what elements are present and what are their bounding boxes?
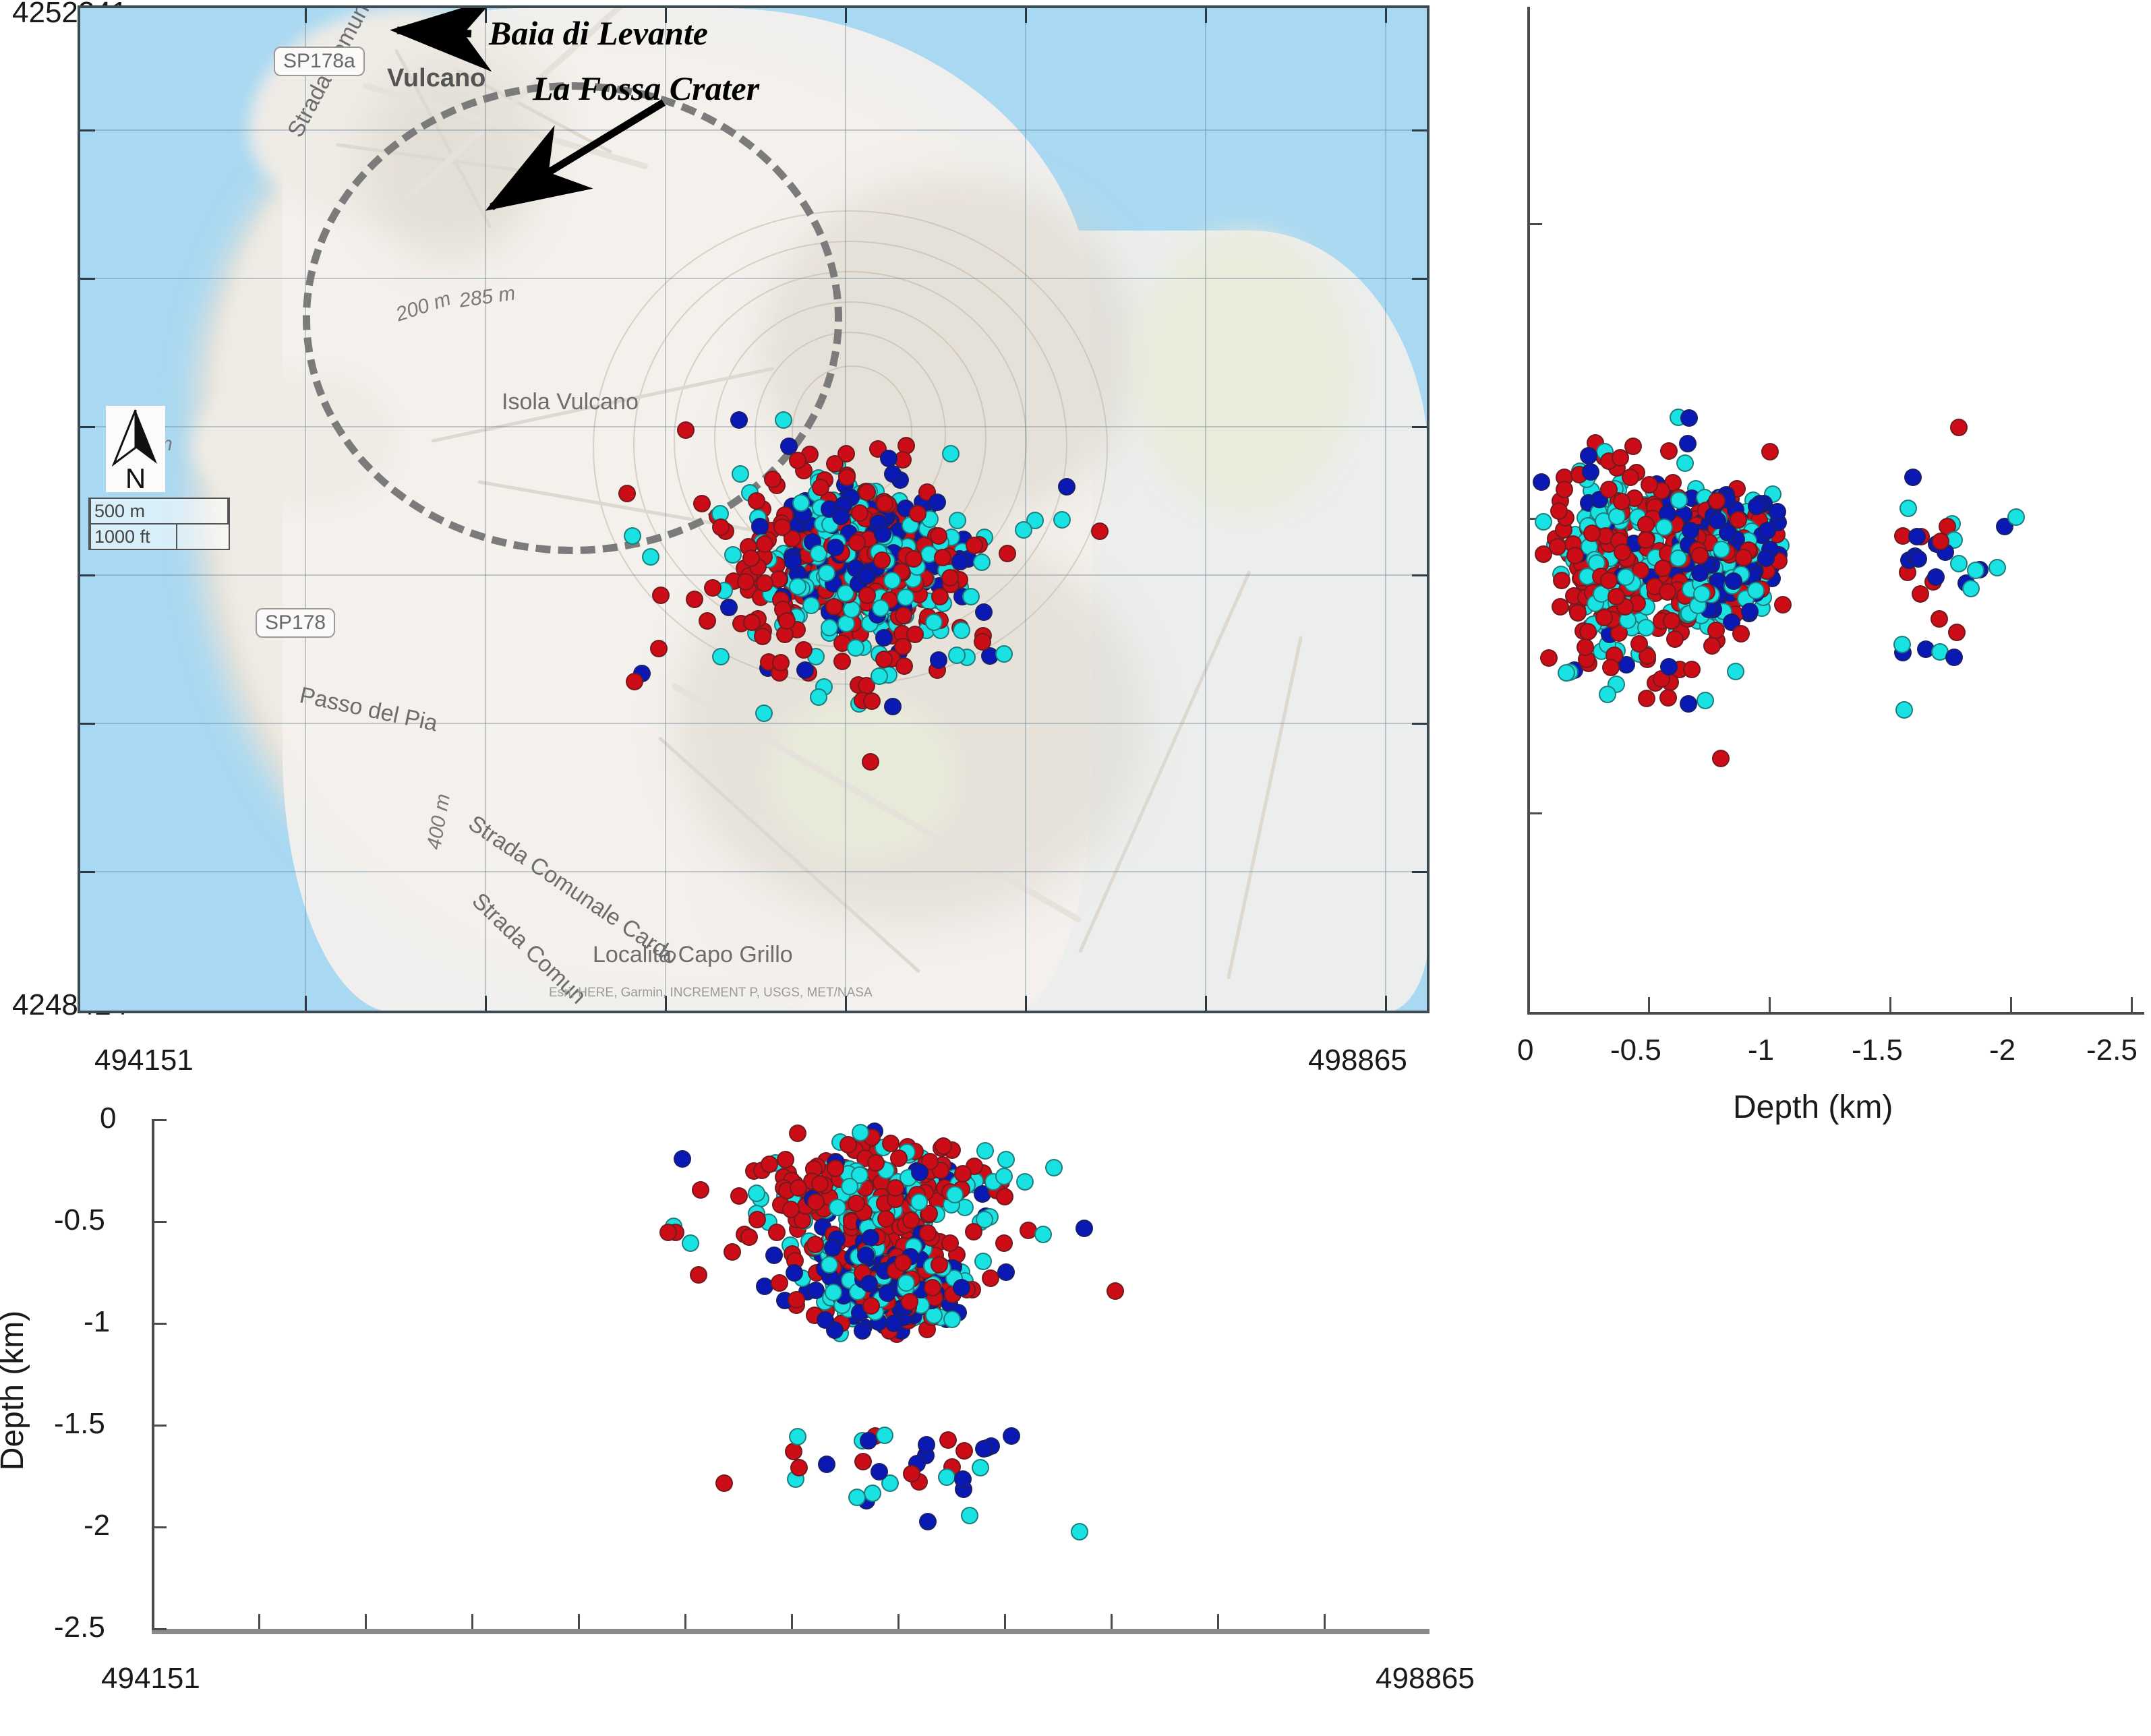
bottom-panel-xtick-6	[791, 1614, 793, 1629]
hypocenter-marker	[785, 1443, 802, 1460]
hypocenter-marker	[1757, 549, 1775, 567]
hypocenter-marker	[704, 579, 721, 597]
road-shield-sp178[interactable]: SP178	[256, 608, 335, 638]
map-tick-top-5	[1025, 8, 1027, 23]
hypocenter-marker	[884, 698, 902, 715]
hypocenter-marker	[737, 573, 755, 591]
right-panel-ytick-3	[1527, 812, 1542, 814]
map-tick-right-1	[1412, 129, 1427, 131]
scale-bar: 500 m 1000 ft	[88, 498, 230, 550]
hypocenter-marker	[790, 1179, 807, 1197]
map-tick-top-4	[845, 8, 847, 23]
hypocenter-marker	[905, 550, 922, 568]
hypocenter-marker	[941, 569, 959, 587]
hypocenter-marker	[1735, 549, 1752, 566]
hypocenter-marker	[1582, 463, 1599, 481]
right-panel-xtick-1	[1648, 997, 1650, 1012]
bottom-panel-ytick-label-5: -2.5	[54, 1611, 105, 1644]
hypocenter-marker	[789, 452, 806, 469]
hypocenter-marker	[1630, 635, 1648, 653]
hypocenter-marker	[1962, 580, 1980, 597]
hypocenter-marker	[1659, 583, 1676, 601]
hypocenter-marker	[901, 1293, 918, 1311]
hypocenter-marker	[833, 653, 851, 670]
bottom-panel-xtick-7	[897, 1614, 900, 1629]
hypocenter-marker	[976, 1142, 994, 1160]
hypocenter-marker	[953, 1279, 970, 1296]
hypocenter-marker	[1622, 469, 1639, 486]
hypocenter-marker	[1904, 469, 1922, 486]
map-tick-top-7	[1385, 8, 1387, 23]
annotation-baia-di-levante: Baia di Levante	[489, 13, 708, 53]
hypocenter-marker	[860, 1275, 878, 1292]
bottom-panel-xtick-1	[258, 1614, 260, 1629]
hypocenter-marker	[876, 1427, 893, 1444]
hypocenter-marker	[730, 1187, 748, 1205]
hypocenter-marker	[1058, 478, 1075, 496]
bottom-panel-ytick-1	[152, 1221, 167, 1223]
hypocenter-marker	[1676, 454, 1694, 472]
hypocenter-marker	[1637, 531, 1655, 549]
hypocenter-marker	[863, 692, 881, 710]
hypocenter-marker	[903, 1465, 920, 1483]
hypocenter-marker	[931, 588, 949, 605]
hypocenter-marker	[1045, 1159, 1063, 1176]
hypocenter-marker	[1583, 525, 1601, 542]
hypocenter-marker	[795, 641, 813, 659]
hypocenter-marker	[879, 1284, 896, 1302]
map-panel[interactable]: Vulcano Isola Vulcano Località Capo Gril…	[78, 5, 1430, 1013]
hypocenter-marker	[1680, 695, 1697, 713]
hypocenter-marker	[1761, 443, 1779, 460]
scale-bar-metric: 500 m	[88, 498, 230, 525]
bottom-panel-ytick-label-3: -1.5	[54, 1407, 105, 1441]
map-tick-right-4	[1412, 574, 1427, 576]
hypocenter-marker	[1967, 562, 1984, 579]
hypocenter-marker	[686, 591, 703, 608]
hypocenter-marker	[854, 1453, 872, 1470]
hypocenter-marker	[854, 1322, 871, 1340]
hypocenter-marker	[802, 597, 820, 614]
hypocenter-marker	[930, 527, 947, 545]
right-panel-xtick-label-2: -1	[1748, 1034, 1774, 1067]
map-tick-left-2	[80, 278, 95, 280]
hypocenter-marker	[1725, 572, 1742, 590]
bottom-panel-ytick-0	[152, 1119, 167, 1121]
hypocenter-marker	[1680, 409, 1698, 427]
hypocenter-marker	[841, 1178, 858, 1195]
hypocenter-marker	[775, 411, 792, 429]
hypocenter-marker	[995, 1168, 1013, 1185]
hypocenter-marker	[818, 564, 835, 582]
hypocenter-marker	[876, 495, 893, 512]
hypocenter-marker	[1638, 690, 1655, 707]
hypocenter-marker	[954, 1165, 972, 1183]
hypocenter-marker	[1727, 663, 1744, 680]
hypocenter-marker	[659, 1224, 677, 1241]
right-depth-panel[interactable]	[1527, 7, 2144, 1018]
hypocenter-marker	[818, 1456, 835, 1473]
hypocenter-marker	[1003, 1427, 1020, 1445]
hypocenter-marker	[1748, 498, 1765, 515]
hypocenter-marker	[966, 537, 983, 554]
hypocenter-marker	[924, 1279, 941, 1296]
hypocenter-marker	[1708, 492, 1726, 510]
hypocenter-marker	[961, 1507, 978, 1524]
hypocenter-marker	[1654, 560, 1672, 577]
map-gridline-v1	[305, 8, 306, 1011]
hypocenter-marker	[939, 1431, 957, 1449]
scale-bar-imperial-label: 1000 ft	[94, 527, 150, 547]
hypocenter-marker	[1988, 559, 2006, 576]
hypocenter-marker	[715, 1474, 733, 1492]
hypocenter-marker	[806, 1236, 824, 1253]
hypocenter-marker	[789, 578, 806, 595]
right-panel-ytick-1	[1527, 223, 1542, 225]
hypocenter-marker	[895, 657, 913, 675]
scale-bar-metric-label: 500 m	[94, 501, 145, 522]
hypocenter-marker	[851, 504, 868, 522]
hypocenter-marker	[624, 527, 641, 545]
hypocenter-marker	[772, 654, 790, 671]
hypocenter-marker	[875, 651, 893, 668]
bottom-panel-xtick-9	[1111, 1614, 1113, 1629]
hypocenter-marker	[883, 572, 901, 589]
hypocenter-marker	[1016, 1173, 1034, 1191]
map-tick-left-6	[80, 871, 95, 873]
hypocenter-marker	[1663, 612, 1680, 630]
hypocenter-marker	[1075, 1220, 1093, 1237]
map-canvas: Vulcano Isola Vulcano Località Capo Gril…	[80, 8, 1427, 1011]
hypocenter-marker	[1950, 555, 1968, 572]
hypocenter-marker	[2007, 508, 2025, 526]
hypocenter-marker	[884, 465, 902, 483]
hypocenter-marker	[626, 673, 643, 690]
hypocenter-marker	[825, 1284, 842, 1301]
hypocenter-marker	[860, 1432, 877, 1449]
right-panel-xtick-0	[1527, 997, 1529, 1012]
bottom-panel-xtick-11	[1324, 1614, 1326, 1629]
bottom-panel-ytick-5	[152, 1628, 167, 1630]
annotation-la-fossa-crater: La Fossa Crater	[533, 69, 759, 108]
scale-bar-tick-imperial-mid	[176, 525, 177, 549]
hypocenter-marker	[720, 599, 738, 616]
map-label-isola-vulcano: Isola Vulcano	[502, 389, 639, 415]
hypocenter-marker	[1540, 649, 1558, 667]
hypocenter-marker	[938, 1468, 955, 1486]
scale-bar-tick-metric-end	[227, 499, 229, 523]
right-panel-xtick-2	[1769, 997, 1771, 1012]
right-panel-x-title: Depth (km)	[1733, 1089, 1893, 1126]
hypocenter-marker	[982, 1269, 999, 1287]
bottom-panel-xtick-8	[1004, 1614, 1006, 1629]
bottom-panel-xtick-3	[471, 1614, 473, 1629]
hypocenter-marker	[761, 1156, 778, 1173]
hypocenter-marker	[740, 1228, 758, 1246]
bottom-panel-xtick-10	[1217, 1614, 1219, 1629]
hypocenter-marker	[925, 613, 943, 631]
hypocenter-marker	[1566, 547, 1584, 564]
map-gridline-h5	[80, 723, 1427, 724]
hypocenter-marker	[929, 493, 946, 511]
hypocenter-marker	[1769, 503, 1786, 520]
right-panel-y-spine	[1527, 7, 1530, 1015]
hypocenter-marker	[789, 1125, 806, 1142]
right-panel-xtick-label-4: -2	[1989, 1034, 2015, 1067]
hypocenter-marker	[792, 494, 810, 512]
hypocenter-marker	[764, 471, 782, 488]
hypocenter-marker	[1912, 585, 1929, 603]
hypocenter-marker	[812, 479, 829, 496]
hypocenter-marker	[874, 525, 891, 543]
hypocenter-marker	[995, 1234, 1013, 1252]
hypocenter-marker	[1774, 596, 1792, 613]
hypocenter-marker	[1945, 649, 1963, 666]
hypocenter-marker	[755, 705, 773, 722]
map-tick-left-1	[80, 129, 95, 131]
vegetation-patch-east	[1132, 231, 1355, 514]
hypocenter-marker	[918, 1436, 935, 1454]
hypocenter-marker	[1712, 750, 1730, 767]
bottom-panel-ytick-label-0: 0	[100, 1102, 116, 1135]
hypocenter-marker	[1659, 689, 1677, 707]
right-panel-xtick-4	[2010, 997, 2012, 1012]
hypocenter-marker	[858, 567, 875, 585]
bottom-panel-ytick-3	[152, 1425, 167, 1427]
hypocenter-marker	[1931, 610, 1948, 628]
hypocenter-marker	[1660, 442, 1678, 460]
hypocenter-marker	[955, 1442, 973, 1460]
hypocenter-marker	[754, 628, 771, 645]
hypocenter-marker	[1713, 541, 1730, 558]
hypocenter-marker	[712, 648, 730, 665]
bottom-panel-x-spine	[152, 1629, 1430, 1634]
right-panel-xtick-label-3: -1.5	[1852, 1034, 1903, 1067]
map-gridline-v7	[1385, 8, 1386, 1011]
hypocenter-marker	[1697, 692, 1714, 709]
hypocenter-marker	[847, 639, 864, 657]
map-tick-left-4	[80, 574, 95, 576]
hypocenter-marker	[778, 612, 796, 630]
hypocenter-marker	[790, 1459, 808, 1476]
right-panel-xtick-label-1: -0.5	[1610, 1034, 1661, 1067]
hypocenter-marker	[997, 1263, 1015, 1281]
hypocenter-marker	[974, 1253, 992, 1270]
map-xtick-right: 498865	[1308, 1044, 1407, 1077]
hypocenter-marker	[682, 1234, 699, 1252]
scale-bar-tick-metric	[90, 499, 91, 523]
hypocenter-marker	[1602, 659, 1620, 676]
scale-bar-tick-imperial	[90, 525, 91, 549]
map-tick-top-6	[1205, 8, 1207, 23]
map-tick-right-2	[1412, 278, 1427, 280]
map-tick-right-3	[1412, 426, 1427, 428]
hypocenter-marker	[911, 1164, 929, 1181]
map-xtick-left: 494151	[94, 1044, 194, 1077]
hypocenter-marker	[748, 492, 765, 510]
hypocenter-marker	[1910, 550, 1927, 568]
hypocenter-marker	[894, 638, 912, 655]
bottom-panel-xtick-label-left: 494151	[101, 1662, 200, 1696]
hypocenter-marker	[777, 1151, 794, 1168]
bottom-panel-ytick-label-2: -1	[84, 1305, 110, 1339]
hypocenter-marker	[871, 1463, 888, 1480]
hypocenter-marker	[1614, 543, 1631, 561]
hypocenter-marker	[864, 1485, 881, 1502]
hypocenter-marker	[1899, 500, 1917, 517]
map-attribution: Esri, HERE, Garmin, INCREMENT P, USGS, M…	[549, 986, 873, 1000]
hypocenter-marker	[954, 1470, 972, 1488]
hypocenter-marker	[910, 1193, 928, 1211]
scale-bar-imperial: 1000 ft	[88, 525, 230, 550]
hypocenter-marker	[618, 485, 636, 502]
bottom-panel-ytick-label-4: -2	[84, 1509, 110, 1543]
hypocenter-marker	[1071, 1523, 1088, 1540]
hypocenter-marker	[827, 1160, 844, 1177]
map-tick-bottom-5	[1025, 996, 1027, 1011]
hypocenter-marker	[1599, 686, 1616, 703]
hypocenter-marker	[765, 1247, 783, 1264]
hypocenter-marker	[786, 1264, 803, 1282]
right-panel-xtick-3	[1889, 997, 1891, 1012]
bottom-depth-panel[interactable]	[152, 1119, 1430, 1632]
map-label-vulcano: Vulcano	[387, 64, 485, 93]
hypocenter-marker	[1600, 572, 1618, 589]
hypocenter-marker	[975, 1440, 993, 1458]
hypocenter-marker	[931, 1256, 948, 1274]
map-tick-bottom-1	[305, 996, 307, 1011]
hypocenter-marker	[1569, 604, 1587, 622]
hypocenter-marker	[1612, 449, 1629, 467]
hypocenter-marker	[810, 688, 827, 706]
hypocenter-marker	[943, 1311, 961, 1328]
hypocenter-marker	[838, 469, 856, 486]
hypocenter-marker	[742, 549, 760, 567]
hypocenter-marker	[934, 549, 951, 566]
crater-boundary-circle	[303, 82, 842, 554]
hypocenter-marker	[748, 1185, 765, 1202]
hypocenter-marker	[768, 1224, 786, 1241]
map-gridline-h1	[80, 129, 1427, 131]
hypocenter-marker	[1691, 564, 1709, 582]
hypocenter-marker	[1580, 447, 1597, 465]
hypocenter-marker	[974, 633, 991, 651]
hypocenter-marker	[821, 619, 838, 636]
hypocenter-marker	[748, 1211, 766, 1228]
hypocenter-marker	[996, 1188, 1013, 1205]
hypocenter-marker	[1107, 1282, 1124, 1300]
hypocenter-marker	[1034, 1226, 1052, 1243]
map-gridline-v6	[1205, 8, 1206, 1011]
hypocenter-marker	[771, 1274, 788, 1292]
hypocenter-marker	[848, 534, 866, 551]
map-label-localita-capo-grillo: Località Capo Grillo	[593, 942, 793, 968]
road-shield-sp178a[interactable]: SP178a	[274, 47, 365, 76]
hypocenter-marker	[690, 1266, 707, 1284]
hypocenter-marker	[858, 587, 876, 604]
bottom-panel-xtick-label-right: 498865	[1376, 1662, 1475, 1696]
hypocenter-marker	[872, 599, 889, 617]
bottom-panel-ytick-label-1: -0.5	[54, 1203, 105, 1237]
north-arrow-icon: N	[106, 406, 165, 492]
figure-root: 4252241 4248424 494151 498865	[0, 0, 2151, 1736]
hypocenter-marker	[1703, 637, 1721, 655]
bottom-panel-y-title: Depth (km)	[0, 1311, 31, 1470]
map-tick-right-6	[1412, 871, 1427, 873]
hypocenter-marker	[782, 1201, 800, 1218]
map-tick-left-3	[80, 426, 95, 428]
hypocenter-marker	[962, 588, 980, 605]
hypocenter-marker	[1600, 481, 1618, 498]
bottom-panel-xtick-4	[578, 1614, 580, 1629]
hypocenter-marker	[832, 508, 850, 525]
hypocenter-marker	[724, 1243, 741, 1261]
hypocenter-marker	[1577, 638, 1594, 656]
hypocenter-marker	[1895, 701, 1913, 719]
map-tick-bottom-7	[1385, 996, 1387, 1011]
hypocenter-marker	[862, 1229, 879, 1247]
hypocenter-marker	[788, 1291, 805, 1309]
hypocenter-marker	[756, 574, 773, 592]
hypocenter-marker	[1666, 630, 1684, 648]
hypocenter-marker	[897, 1274, 915, 1292]
map-tick-left-5	[80, 723, 95, 725]
hypocenter-marker	[857, 1247, 875, 1264]
bottom-panel-y-spine	[152, 1119, 154, 1632]
hypocenter-marker	[1655, 518, 1673, 536]
hypocenter-marker	[1533, 473, 1550, 491]
hypocenter-marker	[1015, 521, 1032, 539]
hypocenter-marker	[995, 645, 1013, 663]
right-panel-xtick-label-0: 0	[1517, 1034, 1533, 1067]
hypocenter-marker	[730, 411, 748, 429]
hypocenter-marker	[1683, 661, 1701, 678]
hypocenter-marker	[1558, 664, 1575, 682]
map-gridline-h6	[80, 871, 1427, 872]
bottom-panel-xtick-2	[365, 1614, 367, 1629]
hypocenter-marker	[949, 512, 966, 529]
map-tick-bottom-6	[1205, 996, 1207, 1011]
hypocenter-marker	[1535, 513, 1552, 531]
hypocenter-marker	[1549, 538, 1566, 556]
right-panel-xtick-5	[2131, 997, 2133, 1012]
hypocenter-marker	[1732, 625, 1750, 642]
hypocenter-marker	[843, 601, 860, 618]
bottom-panel-xtick-5	[684, 1614, 686, 1629]
hypocenter-marker	[871, 667, 888, 685]
hypocenter-marker	[953, 622, 970, 639]
hypocenter-marker	[693, 495, 711, 512]
hypocenter-marker	[789, 1428, 806, 1445]
hypocenter-marker	[674, 1150, 691, 1168]
map-tick-bottom-2	[485, 996, 487, 1011]
hypocenter-marker	[965, 1223, 982, 1240]
svg-text:N: N	[125, 462, 146, 492]
hypocenter-marker	[773, 518, 791, 536]
hypocenter-marker	[941, 1234, 959, 1252]
hypocenter-marker	[1950, 419, 1968, 436]
hypocenter-marker	[877, 1210, 895, 1228]
hypocenter-marker	[997, 1151, 1015, 1168]
hypocenter-marker	[712, 518, 730, 536]
right-panel-x-spine	[1527, 1012, 2144, 1015]
hypocenter-marker	[919, 1513, 937, 1530]
hypocenter-marker	[1932, 533, 1949, 550]
map-tick-top-1	[305, 8, 307, 23]
hypocenter-marker	[1948, 624, 1966, 641]
hypocenter-marker	[784, 553, 802, 570]
right-panel-xtick-label-5: -2.5	[2086, 1034, 2138, 1067]
